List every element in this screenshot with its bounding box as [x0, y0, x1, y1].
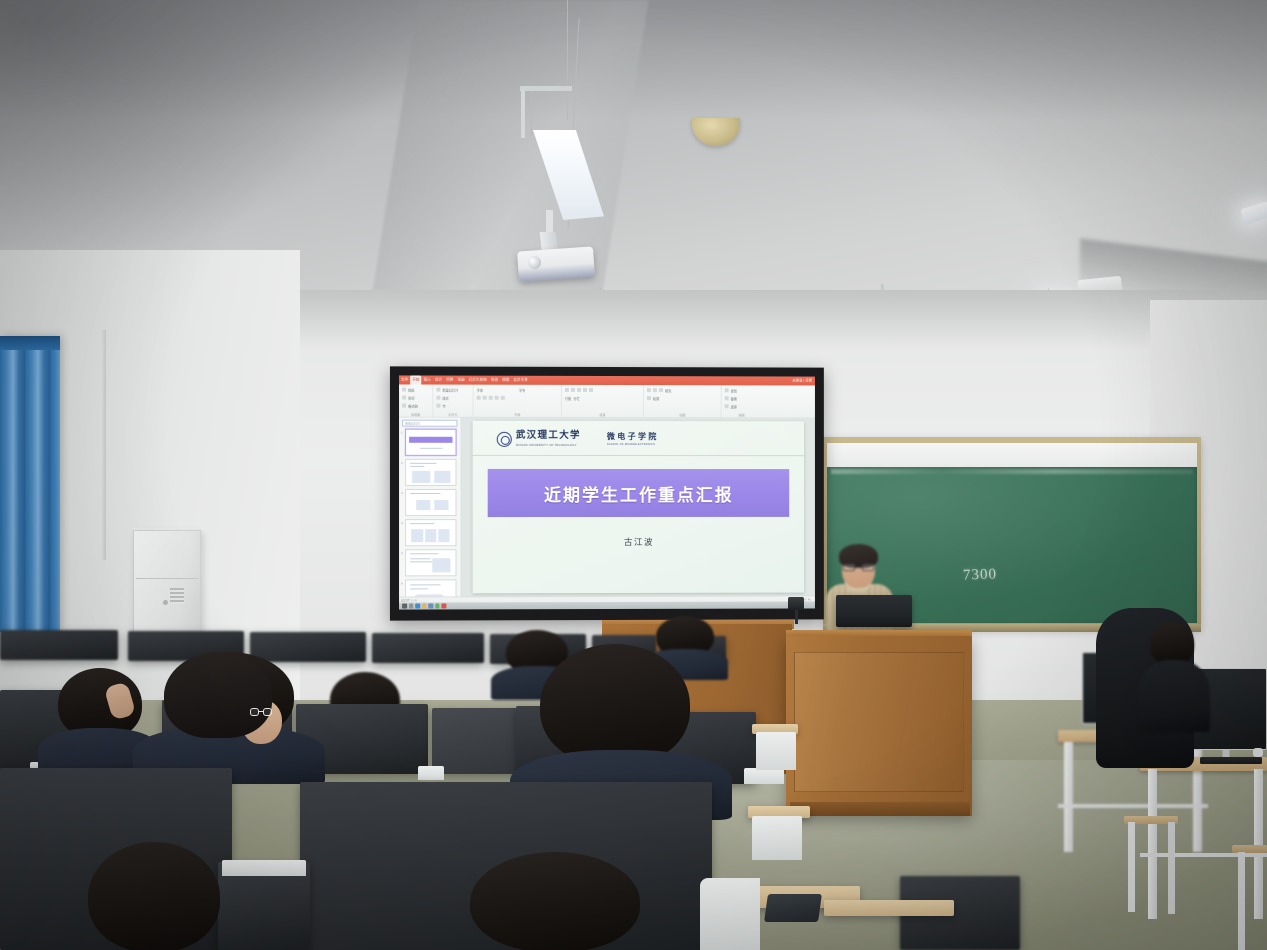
ribbon-item-paste[interactable]: 粘贴: [408, 387, 414, 392]
ribbon-item-replace[interactable]: 替换: [731, 396, 737, 401]
layout-icon[interactable]: [436, 396, 440, 400]
podium-base: [790, 802, 970, 816]
thumbnail-line: [410, 466, 424, 467]
podium-front-panel: [794, 652, 964, 792]
slide-thumbnail-1[interactable]: 1: [405, 429, 456, 456]
desk-leg: [1064, 742, 1073, 852]
university-name-en: WUHAN UNIVERSITY OF TECHNOLOGY: [516, 443, 581, 447]
presenter-laptop[interactable]: [836, 595, 912, 627]
slide-header-divider: [473, 455, 804, 456]
thumbnail-line: [410, 553, 438, 554]
thumbnail-block: [438, 529, 449, 542]
student-far-right: [1150, 622, 1198, 732]
slide-number-3: 3: [401, 491, 403, 495]
ribbon-item-new-slide[interactable]: 新建幻灯片: [442, 387, 458, 392]
ribbon-item-columns[interactable]: 分栏: [573, 395, 579, 400]
slide-number-5: 5: [401, 551, 403, 555]
highlight-icon[interactable]: [501, 396, 505, 400]
thumbnail-block: [434, 500, 448, 510]
select-icon[interactable]: [725, 404, 729, 408]
ribbon-group-label-slides: 幻灯片: [433, 413, 472, 417]
numbering-icon[interactable]: [571, 388, 575, 392]
ribbon-item-fill[interactable]: 填充: [665, 388, 671, 393]
thumbnail-block: [411, 529, 423, 542]
search-icon[interactable]: [409, 604, 414, 609]
thumbnail-banner: [409, 437, 452, 443]
thumbnail-line: [410, 523, 434, 524]
slide-editing-stage[interactable]: 武汉理工大学 WUHAN UNIVERSITY OF TECHNOLOGY 微电…: [462, 418, 815, 597]
ribbon-item-select[interactable]: 选择: [731, 404, 737, 409]
ribbon-group-paragraph: 行距 分栏 段落: [562, 385, 644, 417]
thumbnail-line: [420, 448, 442, 449]
thumbnail-line: [410, 493, 440, 494]
university-logo: 武汉理工大学 WUHAN UNIVERSITY OF TECHNOLOGY: [497, 432, 581, 447]
ribbon-tab-review[interactable]: 审阅: [489, 376, 500, 385]
school-logo: 微电子学院 SCHOOL OF MICROELECTRONICS: [607, 433, 659, 446]
slide-presenter-name: 古江波: [473, 536, 804, 548]
mail-icon[interactable]: [428, 604, 433, 609]
thumbnail-line: [410, 561, 432, 562]
thumbnail-search-input[interactable]: 搜索幻灯片: [402, 420, 457, 427]
ribbon-item-line-spacing[interactable]: 行距: [565, 395, 571, 400]
title-bar-account[interactable]: 未登录 | 设置: [792, 377, 812, 386]
font-size-box[interactable]: 字号: [519, 387, 535, 392]
ribbon-tab-transition[interactable]: 切换: [444, 376, 455, 385]
slide-logo-row: 武汉理工大学 WUHAN UNIVERSITY OF TECHNOLOGY 微电…: [497, 432, 659, 447]
ribbon-tab-design[interactable]: 设计: [433, 376, 444, 385]
thumbnail-line: [410, 558, 430, 559]
underline-icon[interactable]: [489, 396, 493, 400]
chalkboard-upper-track: [827, 443, 1197, 467]
slide-title-text: 近期学生工作重点汇报: [544, 480, 734, 505]
ribbon-tab-member[interactable]: 会员专享: [511, 376, 529, 385]
ceiling-beam: [371, 0, 649, 300]
ribbon: 粘贴 剪切 格式刷 剪贴板 新建幻灯片 版式 节 幻灯片: [399, 384, 815, 418]
ribbon-item-cut[interactable]: 剪切: [408, 395, 414, 400]
cabinet-vent-icon: [170, 588, 184, 604]
slide-thumbnail-3[interactable]: 3: [405, 489, 456, 516]
microphone-stem: [795, 610, 798, 624]
projection-screen: 文件 开始 插入 设计 切换 动画 幻灯片放映 审阅 视图 会员专享 未登录 |…: [390, 366, 824, 620]
desk-partition: [418, 766, 444, 780]
thumbnail-block: [416, 500, 430, 510]
light-bracket-arm: [521, 90, 525, 138]
cabinet-seam: [136, 578, 198, 579]
microphone: [788, 597, 804, 610]
arrange-icon[interactable]: [653, 388, 657, 392]
ribbon-item-layout[interactable]: 版式: [442, 395, 448, 400]
ceiling-corner-shadow: [0, 0, 420, 260]
ribbon-tab-home[interactable]: 开始: [410, 375, 421, 384]
student-glasses-frame-icon: [250, 708, 272, 716]
start-icon[interactable]: [402, 604, 407, 609]
window-curtain: [0, 336, 60, 632]
ribbon-group-label-drawing: 绘图: [644, 413, 721, 417]
student-body: [1138, 660, 1209, 732]
ribbon-tab-animation[interactable]: 动画: [455, 376, 466, 385]
align-right-icon[interactable]: [589, 388, 593, 392]
desk-leg: [1254, 769, 1263, 919]
paste-icon[interactable]: [402, 387, 406, 391]
student-foreground-bottom: [470, 852, 640, 950]
outline-icon[interactable]: [647, 396, 651, 400]
student-foreground-left: [88, 842, 220, 950]
ribbon-item-outline[interactable]: 轮廓: [653, 396, 659, 401]
slide-thumbnail-2[interactable]: 2: [405, 459, 456, 486]
desk-panel: [756, 732, 796, 770]
slide-number-6: 6: [401, 581, 403, 585]
keyboard[interactable]: [1200, 757, 1262, 764]
thumbnail-line: [410, 463, 436, 464]
ribbon-group-font: 字体 字号 字体: [474, 385, 562, 417]
light-bracket: [520, 86, 572, 91]
mouse-icon[interactable]: [1253, 748, 1263, 757]
ribbon-tab-view[interactable]: 视图: [500, 376, 511, 385]
light-hanger-wire: [531, 86, 532, 136]
stool-leg: [1238, 852, 1245, 950]
ribbon-group-label-font: 字体: [474, 413, 561, 417]
section-icon[interactable]: [436, 404, 440, 408]
light-hanger-wire: [567, 0, 568, 120]
ribbon-group-slides: 新建幻灯片 版式 节 幻灯片: [433, 385, 473, 417]
bold-icon[interactable]: [477, 396, 481, 400]
student-head: [540, 644, 690, 766]
university-name-cn: 武汉理工大学: [516, 432, 581, 442]
slide-number-4: 4: [401, 521, 403, 525]
ribbon-tab-slideshow[interactable]: 幻灯片放映: [467, 376, 489, 385]
bullets-icon[interactable]: [565, 388, 569, 392]
desk-panel: [752, 816, 802, 860]
chalk-smudge: [831, 469, 1193, 474]
slide-thumbnail-6[interactable]: 6: [405, 579, 456, 596]
current-slide[interactable]: 武汉理工大学 WUHAN UNIVERSITY OF TECHNOLOGY 微电…: [473, 421, 804, 594]
ribbon-group-clipboard: 粘贴 剪切 格式刷 剪贴板: [399, 384, 433, 416]
thumbnail-block: [412, 471, 430, 483]
ribbon-group-label-editing: 编辑: [722, 413, 762, 417]
slide-thumbnail-5[interactable]: 5: [405, 549, 456, 576]
chalkboard-note: 7300: [963, 566, 998, 584]
student-head: [470, 852, 640, 950]
quick-style-icon[interactable]: [659, 388, 663, 392]
italic-icon[interactable]: [483, 396, 487, 400]
thumbnail-block: [434, 471, 450, 483]
chat-icon[interactable]: [435, 604, 440, 609]
wall-electrical-cabinet: [133, 530, 201, 635]
seat-back: [0, 630, 118, 660]
curtain-rail: [0, 336, 60, 350]
student-head: [88, 842, 220, 950]
school-name-cn: 微电子学院: [607, 433, 659, 441]
student-desk-top: [824, 900, 954, 916]
ribbon-item-find[interactable]: 查找: [731, 388, 737, 393]
font-color-icon[interactable]: [495, 396, 499, 400]
student-mid-left: [58, 668, 142, 780]
desk-partition: [744, 768, 784, 784]
school-name-en: SCHOOL OF MICROELECTRONICS: [607, 443, 659, 446]
thumbnail-line: [410, 588, 428, 589]
slide-title-banner[interactable]: 近期学生工作重点汇报: [488, 469, 790, 517]
presenter-glasses-icon: [843, 564, 874, 571]
student-hair: [164, 652, 272, 738]
ribbon-item-section[interactable]: 节: [442, 403, 445, 408]
university-seal-icon: [497, 432, 512, 447]
ribbon-group-drawing: 填充 轮廓 绘图: [644, 385, 722, 417]
projected-desktop: 文件 开始 插入 设计 切换 动画 幻灯片放映 审阅 视图 会员专享 未登录 |…: [399, 375, 815, 609]
align-center-icon[interactable]: [583, 388, 587, 392]
ribbon-group-editing: 查找 替换 选择 编辑: [722, 385, 762, 417]
replace-icon[interactable]: [725, 396, 729, 400]
format-painter-icon[interactable]: [402, 404, 406, 408]
wps-icon[interactable]: [441, 604, 446, 609]
thumbnail-line: [410, 584, 440, 585]
browser-icon[interactable]: [415, 604, 420, 609]
windows-taskbar[interactable]: [399, 601, 815, 609]
align-left-icon[interactable]: [577, 388, 581, 392]
new-slide-icon[interactable]: [436, 388, 440, 392]
mousepad: [764, 894, 822, 922]
desk-partition: [222, 860, 306, 876]
ribbon-tab-file[interactable]: 文件: [399, 375, 410, 384]
slide-thumbnail-pane[interactable]: 搜索幻灯片 1 2 3: [399, 418, 462, 597]
wall-conduit: [102, 330, 106, 560]
cabinet-knob-icon[interactable]: [163, 600, 168, 605]
ribbon-item-format-painter[interactable]: 格式刷: [408, 403, 418, 408]
ribbon-group-label-clipboard: 剪贴板: [399, 413, 432, 417]
seat-back: [432, 708, 518, 774]
shapes-icon[interactable]: [647, 388, 651, 392]
classroom-photo: 7300 文件 开始 插入 设计 切换 动画 幻灯片放映 审阅 视图 会员专享 …: [0, 0, 1267, 950]
font-name-box[interactable]: 字体: [477, 387, 517, 392]
cut-icon[interactable]: [402, 396, 406, 400]
desk-panel: [700, 878, 760, 950]
ribbon-tab-insert[interactable]: 插入: [422, 375, 433, 384]
thumbnail-block: [425, 529, 436, 542]
slide-number-1: 1: [401, 431, 403, 435]
slide-thumbnail-4[interactable]: 4: [405, 519, 456, 546]
find-icon[interactable]: [725, 388, 729, 392]
ribbon-group-label-paragraph: 段落: [562, 413, 643, 417]
seat-back: [372, 633, 484, 663]
slide-number-2: 2: [401, 461, 403, 465]
folder-icon[interactable]: [422, 604, 427, 609]
thumbnail-block: [432, 558, 450, 572]
